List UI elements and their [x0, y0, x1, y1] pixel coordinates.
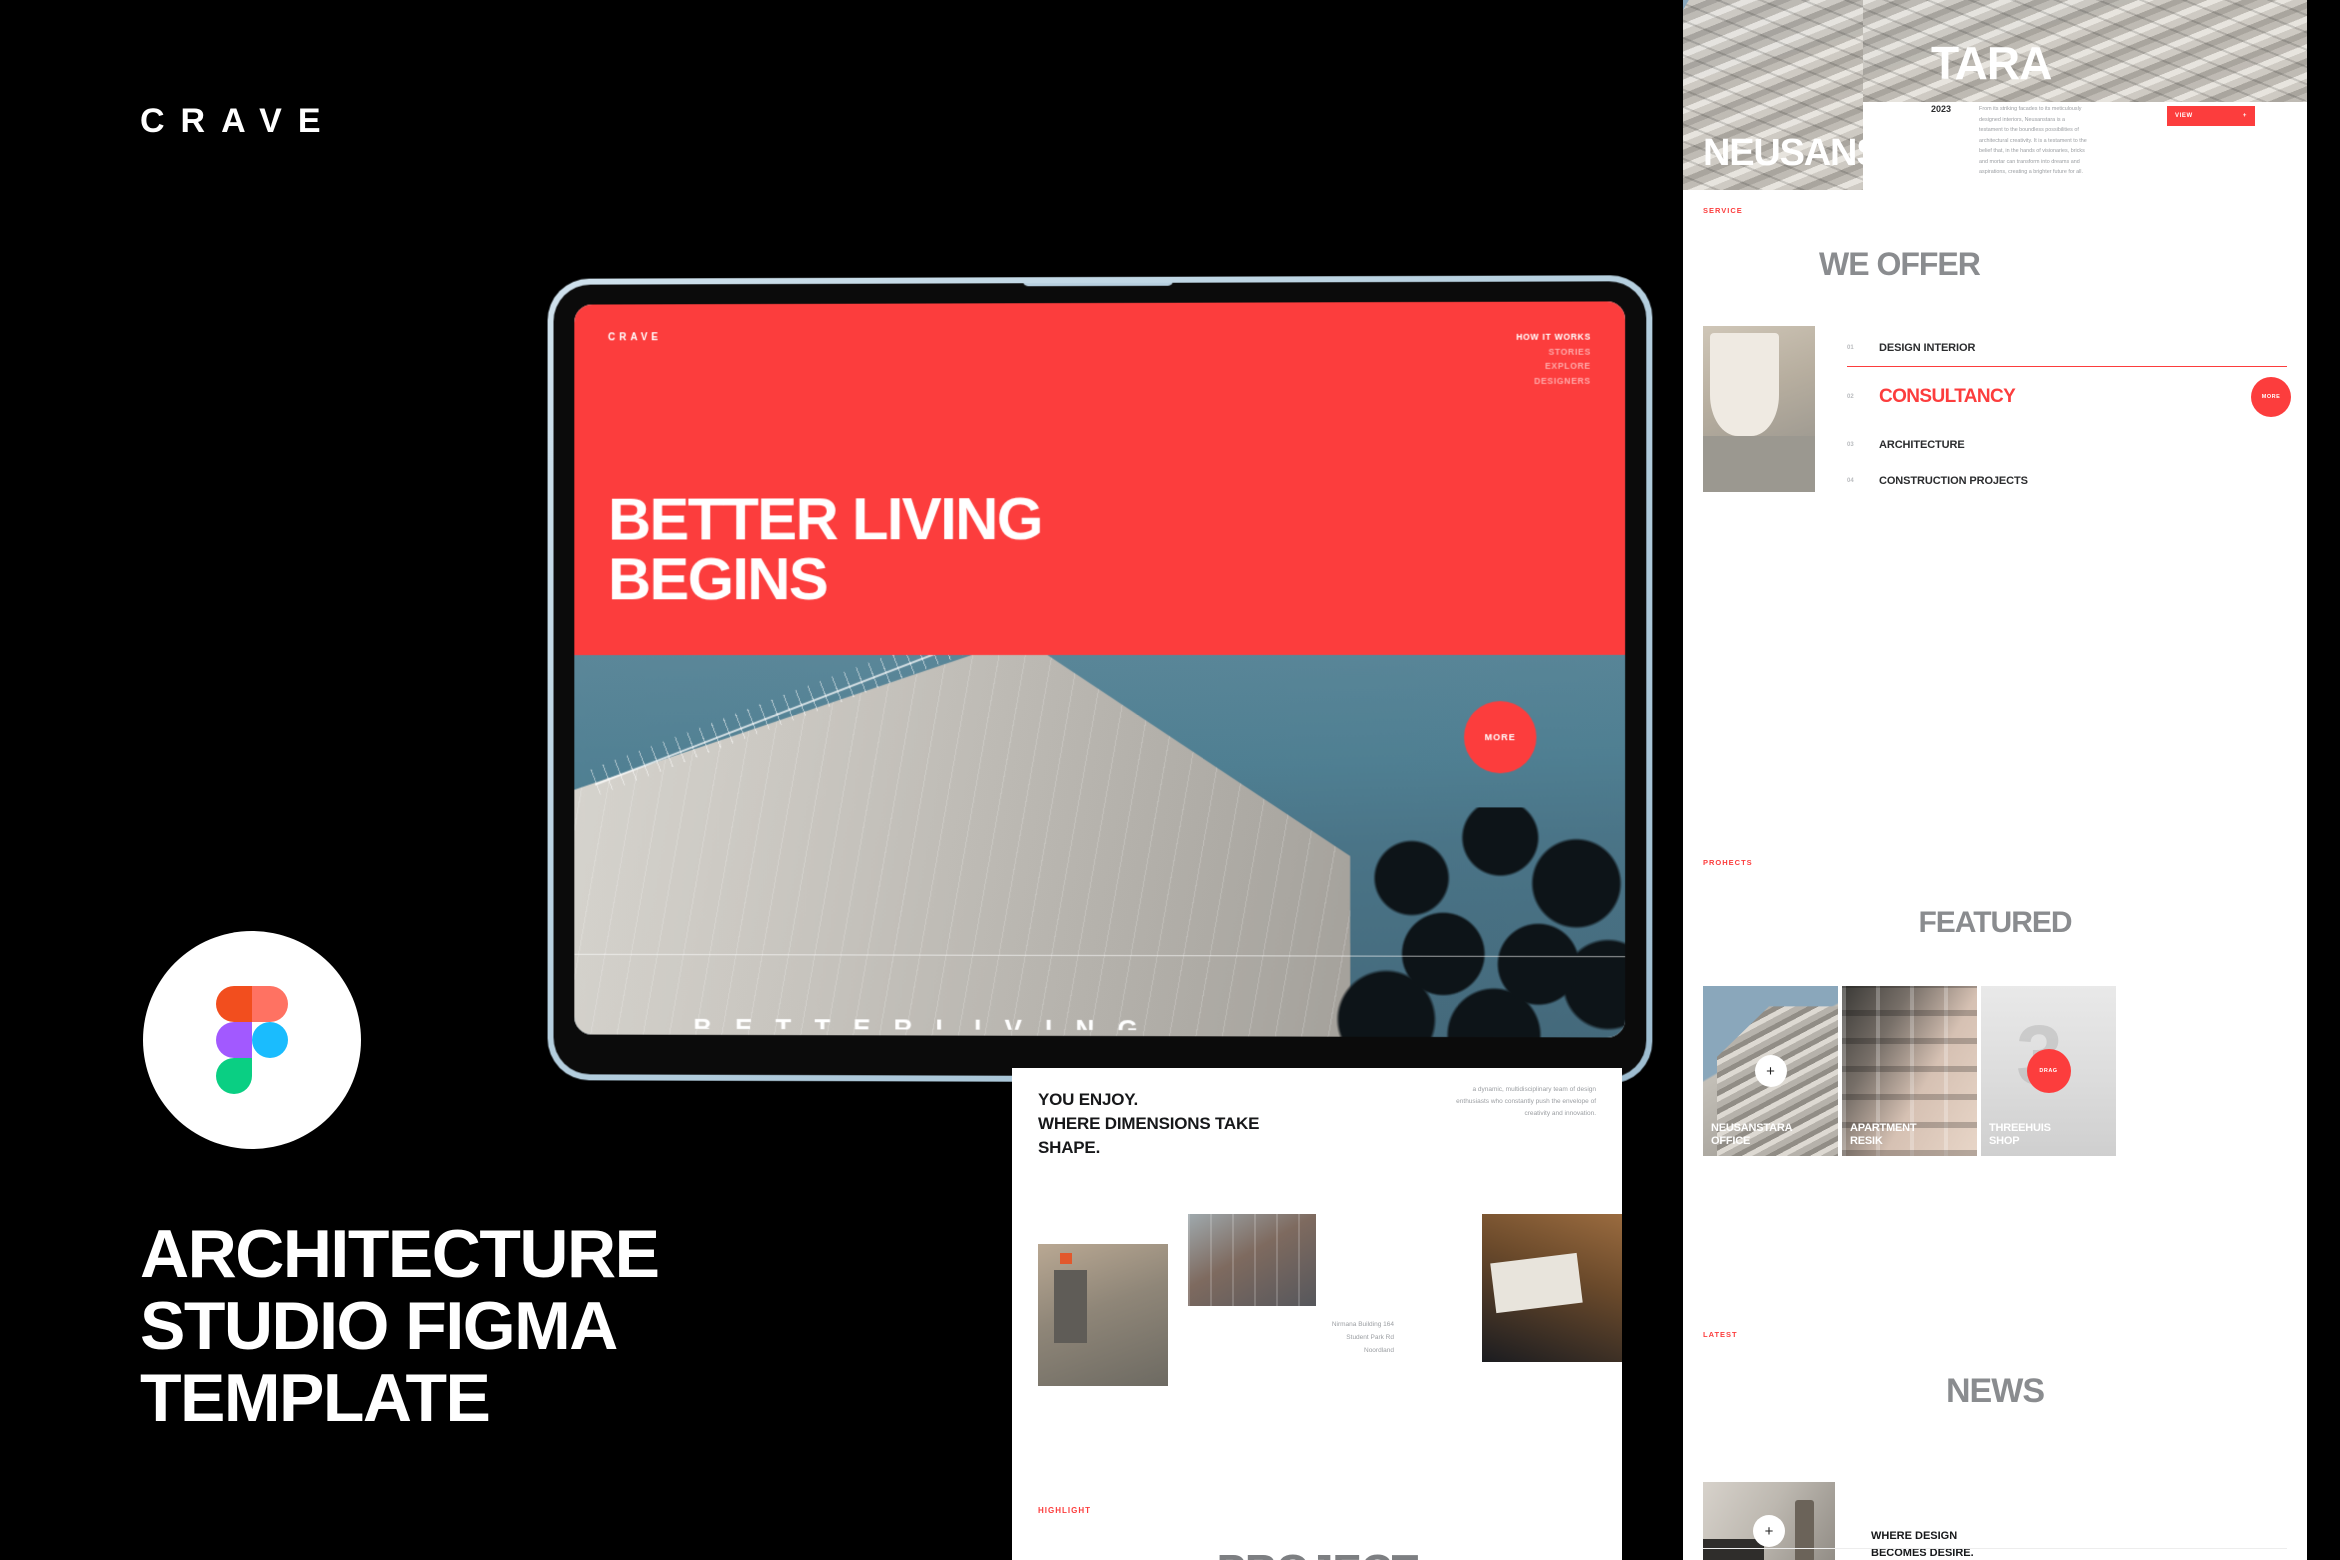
news-kicker: LATEST — [1703, 1330, 1738, 1339]
middle-heading-line-3: SHAPE. — [1038, 1136, 1259, 1160]
hero-ticker: B E T T E R L I V I N G — [693, 1013, 1534, 1031]
offer-item-number: 03 — [1847, 442, 1857, 448]
address-line-3: Noordland — [1274, 1344, 1394, 1357]
foliage-silhouette — [1329, 808, 1625, 1038]
offer-item-number: 01 — [1847, 345, 1857, 351]
hero-word-tara: TARA — [1931, 36, 2051, 90]
news-divider — [1703, 1548, 2287, 1549]
featured-card-line-1: NEUSANSTARA — [1711, 1122, 1792, 1135]
middle-big-heading: PROJECT — [1012, 1546, 1622, 1560]
promo-title: ARCHITECTURE STUDIO FIGMA TEMPLATE — [140, 1218, 860, 1434]
right-hero: TARA NEUSANS 2023 From its striking faca… — [1683, 0, 2307, 190]
building-shape — [574, 655, 1350, 1038]
featured-kicker: PROHECTS — [1703, 858, 1753, 867]
tablet-camera-icon — [1023, 281, 1173, 286]
offer-item-architecture[interactable]: 03 ARCHITECTURE — [1847, 427, 2287, 463]
featured-card-line-1: THREEHUIS — [1989, 1122, 2051, 1135]
hero-headline: BETTER LIVING BEGINS — [608, 489, 1042, 609]
plus-icon[interactable]: + — [1753, 1515, 1785, 1547]
middle-page: YOU ENJOY. WHERE DIMENSIONS TAKE SHAPE. … — [1012, 1068, 1622, 1560]
middle-kicker: HIGHLIGHT — [1038, 1506, 1091, 1515]
news-headline-line-1: WHERE DESIGN — [1871, 1528, 1974, 1545]
figma-logo-icon — [216, 986, 288, 1094]
offer-more-button[interactable]: MORE — [2251, 377, 2291, 417]
tablet-body: CRAVE HOW IT WORKS STORIES EXPLORE DESIG… — [554, 281, 1647, 1078]
hero-more-button[interactable]: MORE — [1464, 701, 1536, 773]
news-title: NEWS — [1683, 1372, 2307, 1411]
hero-headline-line-2: BEGINS — [608, 549, 1042, 609]
offer-item-label: CONSULTANCY — [1879, 386, 2015, 408]
menu-item-explore[interactable]: EXPLORE — [1516, 359, 1591, 374]
figma-logo-badge — [143, 931, 361, 1149]
menu-item-stories[interactable]: STORIES — [1516, 344, 1591, 359]
offer-item-label: ARCHITECTURE — [1879, 439, 1965, 451]
featured-card-neusanstara-office[interactable]: + NEUSANSTARA OFFICE — [1703, 986, 1838, 1156]
featured-card-threehuis-shop[interactable]: DRAG THREEHUIS SHOP — [1981, 986, 2116, 1156]
hero-year: 2023 — [1931, 104, 1951, 178]
menu-item-how-it-works[interactable]: HOW IT WORKS — [1516, 330, 1591, 345]
offer-item-number: 04 — [1847, 478, 1857, 484]
promo-line-3: TEMPLATE — [140, 1362, 860, 1434]
offer-title: WE OFFER — [1819, 246, 1980, 283]
featured-card-line-2: OFFICE — [1711, 1135, 1792, 1148]
hero-photo — [574, 655, 1625, 1038]
featured-title: FEATURED — [1683, 906, 2307, 940]
hero-headline-line-1: BETTER LIVING — [608, 489, 1042, 549]
promo-line-2: STUDIO FIGMA — [140, 1290, 860, 1362]
middle-photo-1 — [1038, 1244, 1168, 1386]
hero-word-neusans: NEUSANS — [1703, 132, 1880, 175]
hero-view-label: VIEW — [2175, 113, 2193, 119]
featured-card-label: APARTMENT RESIK — [1850, 1122, 1916, 1148]
tablet-screen: CRAVE HOW IT WORKS STORIES EXPLORE DESIG… — [574, 301, 1625, 1037]
hero-meta: 2023 From its striking facades to its me… — [1931, 104, 2089, 178]
offer-kicker: SERVICE — [1703, 206, 1743, 215]
featured-card-line-1: APARTMENT — [1850, 1122, 1916, 1135]
hero-description: From its striking facades to its meticul… — [1979, 104, 2089, 178]
site-navbar: CRAVE HOW IT WORKS STORIES EXPLORE DESIG… — [608, 330, 1591, 391]
drag-handle-icon[interactable]: DRAG — [2027, 1049, 2071, 1093]
featured-card-label: NEUSANSTARA OFFICE — [1711, 1122, 1792, 1148]
news-headline: WHERE DESIGN BECOMES DESIRE. — [1871, 1528, 1974, 1560]
right-page: TARA NEUSANS 2023 From its striking faca… — [1683, 0, 2307, 1560]
featured-card-apartment-resik[interactable]: APARTMENT RESIK — [1842, 986, 1977, 1156]
middle-heading-line-2: WHERE DIMENSIONS TAKE — [1038, 1112, 1259, 1136]
hero-view-button[interactable]: VIEW + — [2167, 106, 2255, 126]
plus-icon[interactable]: + — [1755, 1055, 1787, 1087]
site-menu: HOW IT WORKS STORIES EXPLORE DESIGNERS — [1516, 330, 1591, 389]
offer-item-design-interior[interactable]: 01 DESIGN INTERIOR — [1847, 330, 2287, 366]
offer-list: 01 DESIGN INTERIOR 02 CONSULTANCY MORE 0… — [1847, 330, 2287, 499]
plus-icon: + — [2243, 113, 2247, 119]
brand-logo: CRAVE — [140, 104, 337, 138]
site-logo[interactable]: CRAVE — [608, 332, 662, 343]
news-headline-line-2: BECOMES DESIRE. — [1871, 1545, 1974, 1560]
menu-item-designers[interactable]: DESIGNERS — [1516, 374, 1591, 389]
promo-line-1: ARCHITECTURE — [140, 1218, 860, 1290]
middle-address: Nirmana Building 164 Student Park Rd Noo… — [1274, 1318, 1394, 1357]
offer-item-number: 02 — [1847, 394, 1857, 400]
middle-photo-3 — [1482, 1214, 1622, 1362]
featured-card-line-2: SHOP — [1989, 1135, 2051, 1148]
featured-card-line-2: RESIK — [1850, 1135, 1916, 1148]
offer-photo — [1703, 326, 1815, 492]
featured-card-list: + NEUSANSTARA OFFICE APARTMENT RESIK DRA… — [1703, 986, 2116, 1156]
tablet-mockup: CRAVE HOW IT WORKS STORIES EXPLORE DESIG… — [548, 275, 1653, 1084]
offer-item-label: CONSTRUCTION PROJECTS — [1879, 475, 2028, 487]
address-line-1: Nirmana Building 164 — [1274, 1318, 1394, 1331]
middle-heading: YOU ENJOY. WHERE DIMENSIONS TAKE SHAPE. — [1038, 1088, 1259, 1160]
featured-card-label: THREEHUIS SHOP — [1989, 1122, 2051, 1148]
middle-paragraph: a dynamic, multidisciplinary team of des… — [1448, 1084, 1596, 1120]
offer-item-label: DESIGN INTERIOR — [1879, 342, 1975, 354]
offer-item-construction-projects[interactable]: 04 CONSTRUCTION PROJECTS — [1847, 463, 2287, 499]
middle-heading-line-1: YOU ENJOY. — [1038, 1088, 1259, 1112]
offer-item-consultancy[interactable]: 02 CONSULTANCY MORE — [1847, 367, 2287, 427]
poster-canvas: CRAVE ARCHITECTURE STUDIO FIGMA TEMPLATE — [0, 0, 2340, 1560]
middle-photo-2 — [1188, 1214, 1316, 1306]
address-line-2: Student Park Rd — [1274, 1331, 1394, 1344]
